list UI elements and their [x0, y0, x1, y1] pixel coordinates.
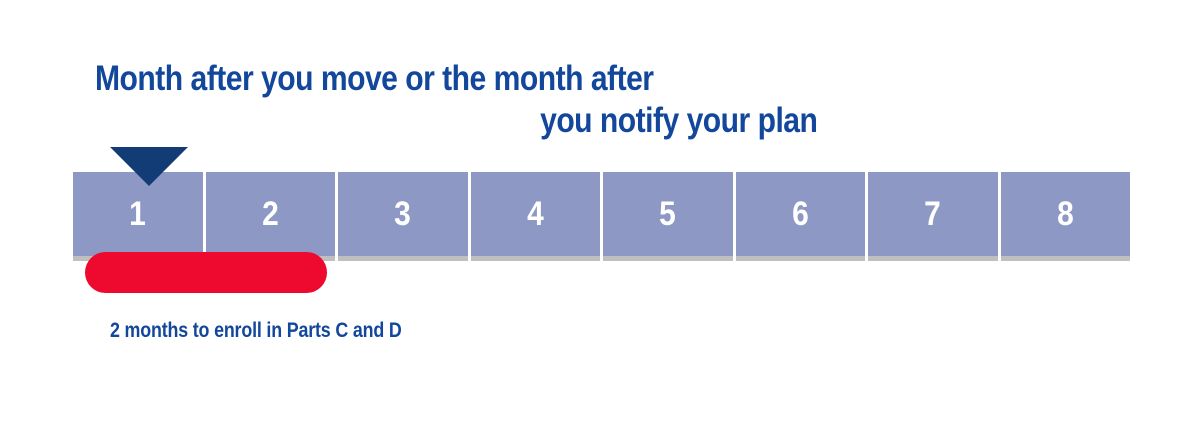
month-label: 8 [1057, 197, 1074, 231]
month-label: 5 [659, 197, 676, 231]
month-cell: 4 [471, 172, 601, 256]
enrollment-timeline-infographic: Month after you move or the month after … [0, 0, 1200, 423]
page-title: Month after you move or the month after … [95, 58, 719, 142]
month-cell: 8 [1001, 172, 1131, 256]
enrollment-period-bar [85, 252, 327, 293]
month-label: 2 [262, 197, 279, 231]
month-cell: 7 [868, 172, 998, 256]
triangle-down-icon [110, 147, 188, 186]
month-cell: 6 [736, 172, 866, 256]
page-title-line-1: Month after you move or the month after [95, 58, 817, 100]
month-cell: 5 [603, 172, 733, 256]
page-title-line-2: you notify your plan [95, 100, 817, 142]
month-label: 7 [924, 197, 941, 231]
month-label: 4 [527, 197, 544, 231]
enrollment-period-caption: 2 months to enroll in Parts C and D [110, 318, 402, 344]
month-timeline: 1 2 3 4 5 6 7 8 [73, 172, 1130, 256]
month-cell: 3 [338, 172, 468, 256]
month-cell: 2 [206, 172, 336, 256]
month-label: 3 [394, 197, 411, 231]
month-label: 6 [792, 197, 809, 231]
month-label: 1 [129, 197, 146, 231]
